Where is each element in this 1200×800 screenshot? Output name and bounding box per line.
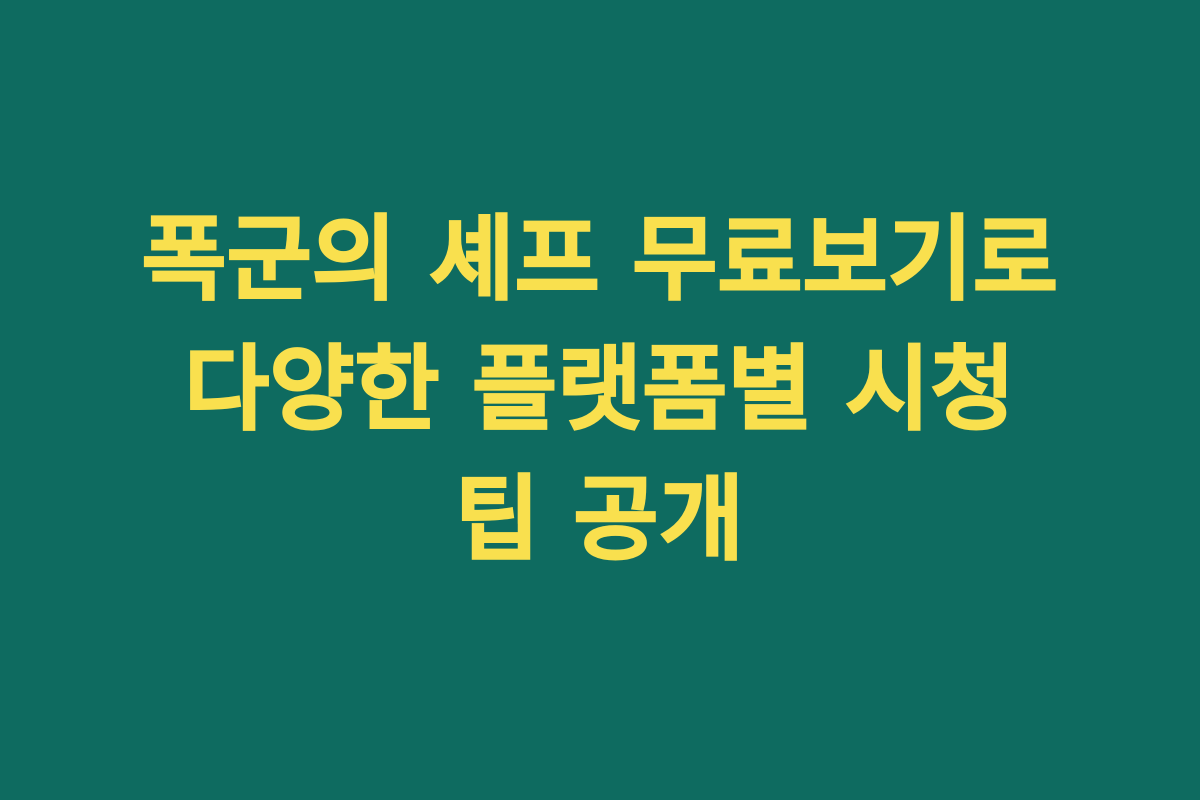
headline-line-3: 팁 공개 <box>40 455 1160 585</box>
headline-line-1: 폭군의 셰프 무료보기로 <box>40 195 1160 325</box>
headline-text-block: 폭군의 셰프 무료보기로 다양한 플랫폼별 시청 팁 공개 <box>40 195 1160 585</box>
thumbnail-canvas: 폭군의 셰프 무료보기로 다양한 플랫폼별 시청 팁 공개 <box>0 0 1200 800</box>
headline-line-2: 다양한 플랫폼별 시청 <box>40 325 1160 455</box>
